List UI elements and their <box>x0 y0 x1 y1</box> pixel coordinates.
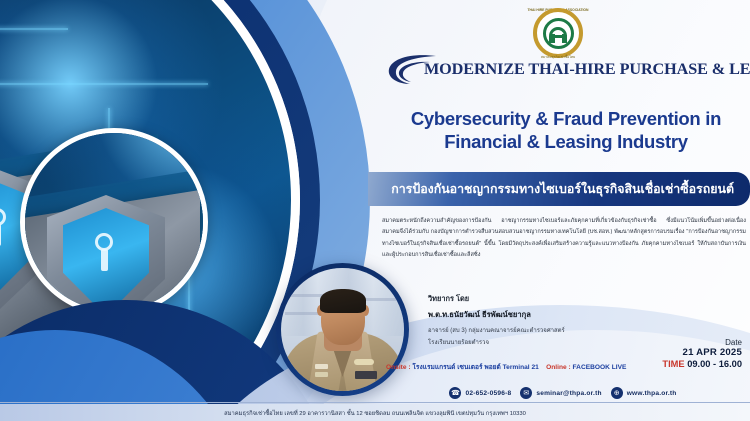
event-date: Date 21 APR 2025 <box>683 338 742 358</box>
speaker-affiliation: โรงเรียนนายร้อยตำรวจ <box>428 337 658 347</box>
onsite-label: Onsite : <box>386 364 411 371</box>
speaker-label: วิทยากร โดย <box>428 293 658 305</box>
date-value: 21 APR 2025 <box>683 347 742 358</box>
subtitle-band: การป้องกันอาชญากรรมทางไซเบอร์ในธุรกิจสิน… <box>368 172 750 206</box>
speaker-position: อาจารย์ (สบ 3) กลุ่มงานคณาจารย์คณะตำรวจศ… <box>428 325 658 335</box>
email-address: seminar@thpa.or.th <box>536 390 601 397</box>
footer-address: สมาคมธุรกิจเช่าซื้อไทย เลขที่ 29 อาคารวา… <box>224 408 526 418</box>
speaker-name: พ.ต.ท.ธนัยวัฒน์ ธีรพัฒน์ชยากุล <box>428 309 658 321</box>
onsite-value: โรงแรมแกรนด์ เซนเตอร์ พอยต์ Terminal 21 <box>412 364 538 371</box>
footer-divider <box>0 402 750 403</box>
website-url: www.thpa.or.th <box>627 390 677 397</box>
date-label: Date <box>683 338 742 347</box>
contact-email[interactable]: ✉ seminar@thpa.or.th <box>520 387 601 399</box>
venue-info: Onsite : โรงแรมแกรนด์ เซนเตอร์ พอยต์ Ter… <box>386 361 686 372</box>
globe-icon: ⊕ <box>611 387 623 399</box>
page-title: Cybersecurity & Fraud Prevention in Fina… <box>386 108 746 153</box>
logo-badge <box>533 8 583 58</box>
phone-icon: ☎ <box>449 387 461 399</box>
footer-address-bar: สมาคมธุรกิจเช่าซื้อไทย เลขที่ 29 อาคารวา… <box>0 404 750 421</box>
event-banner: MODERNIZE THAI-HIRE PURCHASE & LEASING 2… <box>380 59 750 87</box>
phone-number: 02-652-0596-8 <box>465 390 511 397</box>
banner-title: MODERNIZE THAI-HIRE PURCHASE & LEASING 2… <box>424 60 750 79</box>
association-logo: THAI HIRE PURCHASE ASSOCIATION สมาคมธุรก… <box>525 8 591 64</box>
cyber-shield-closeup <box>20 128 208 316</box>
subtitle-thai: การป้องกันอาชญากรรมทางไซเบอร์ในธุรกิจสิน… <box>391 180 734 199</box>
contact-phone[interactable]: ☎ 02-652-0596-8 <box>449 387 511 399</box>
contact-bar: ☎ 02-652-0596-8 ✉ seminar@thpa.or.th ⊕ w… <box>376 382 750 404</box>
title-line-2: Financial & Leasing Industry <box>386 131 746 154</box>
logo-emblem-icon <box>543 18 574 49</box>
time-label: TIME <box>662 359 684 369</box>
event-time: TIME 09.00 - 16.00 <box>662 359 742 369</box>
online-label: Online : <box>546 364 571 371</box>
online-value: FACEBOOK LIVE <box>573 364 627 371</box>
title-line-1: Cybersecurity & Fraud Prevention in <box>386 108 746 131</box>
email-icon: ✉ <box>520 387 532 399</box>
contact-website[interactable]: ⊕ www.thpa.or.th <box>611 387 677 399</box>
time-value: 09.00 - 16.00 <box>687 359 742 369</box>
seminar-poster: THAI HIRE PURCHASE ASSOCIATION สมาคมธุรก… <box>0 0 750 421</box>
poster-content: THAI HIRE PURCHASE ASSOCIATION สมาคมธุรก… <box>376 0 750 421</box>
description-paragraph: สมาคมตระหนักถึงความสำคัญของการป้องกัน อา… <box>382 216 746 262</box>
speaker-info: วิทยากร โดย พ.ต.ท.ธนัยวัฒน์ ธีรพัฒน์ชยาก… <box>428 293 658 347</box>
